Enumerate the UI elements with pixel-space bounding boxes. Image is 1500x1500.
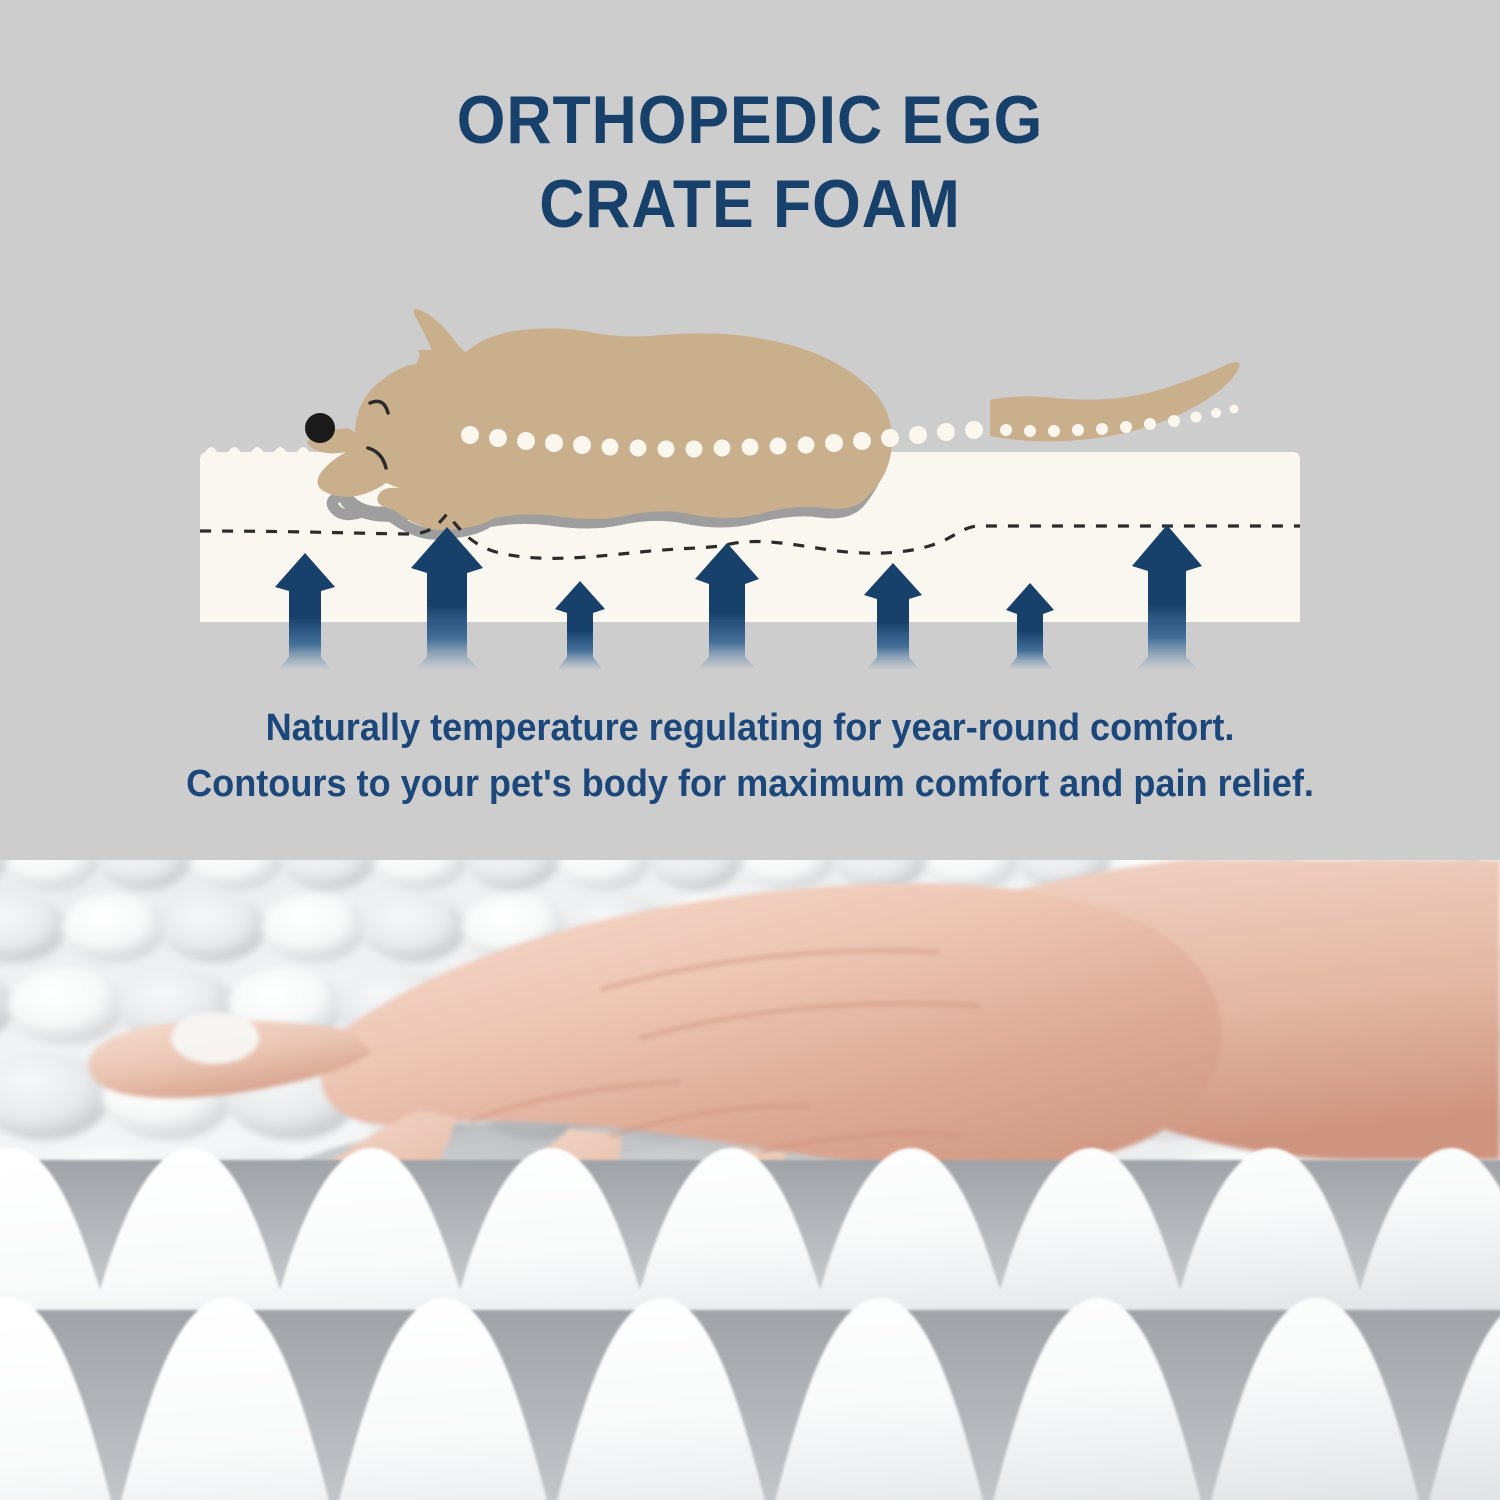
foam-cross-section-illustration (0, 300, 1500, 680)
infographic-panel: ORTHOPEDIC EGG CRATE FOAM (0, 0, 1500, 860)
foreground-foam-peaks (0, 1040, 1500, 1500)
foam-peak-row-front (0, 1298, 1500, 1500)
page-title: ORTHOPEDIC EGG CRATE FOAM (60, 78, 1440, 246)
caption-line-2: Contours to your pet's body for maximum … (38, 756, 1463, 812)
caption-line-1: Naturally temperature regulating for yea… (38, 700, 1463, 756)
product-feature-graphic: ORTHOPEDIC EGG CRATE FOAM (0, 0, 1500, 1500)
dog-body (355, 309, 892, 530)
feature-captions: Naturally temperature regulating for yea… (38, 700, 1463, 812)
foam-photo (0, 860, 1500, 1500)
dog-nose (305, 413, 335, 443)
